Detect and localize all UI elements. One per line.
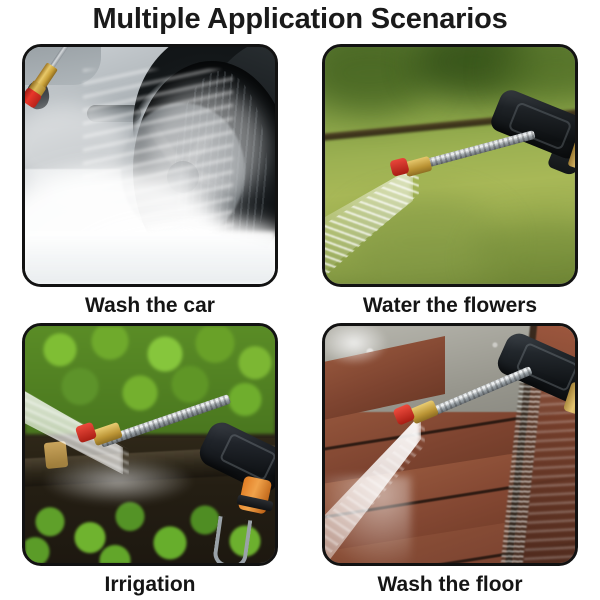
wet-ground	[25, 232, 275, 284]
scenario-image-water-the-flowers	[322, 44, 578, 287]
water-splash	[325, 326, 389, 366]
photo-wash-the-floor	[325, 326, 575, 563]
scenario-caption-wash-the-car: Wash the car	[22, 294, 278, 318]
photo-irrigation	[25, 326, 275, 563]
page-title: Multiple Application Scenarios	[0, 2, 600, 36]
scenario-image-wash-the-car	[22, 44, 278, 287]
scenario-image-wash-the-floor	[322, 323, 578, 566]
gun-trigger-guard	[212, 516, 253, 563]
infographic-page: Multiple Application Scenarios	[0, 0, 600, 600]
scenario-card-wash-the-floor: Wash the floor	[322, 323, 578, 597]
scenario-caption-irrigation: Irrigation	[22, 573, 278, 597]
scenario-card-water-the-flowers: Water the flowers	[322, 44, 578, 318]
scenario-image-irrigation	[22, 323, 278, 566]
scenario-caption-water-the-flowers: Water the flowers	[322, 294, 578, 318]
scenario-card-irrigation: Irrigation	[22, 323, 278, 597]
scenario-card-wash-the-car: Wash the car	[22, 44, 278, 318]
photo-wash-the-car	[25, 47, 275, 284]
scenario-caption-wash-the-floor: Wash the floor	[322, 573, 578, 597]
photo-water-the-flowers	[325, 47, 575, 284]
